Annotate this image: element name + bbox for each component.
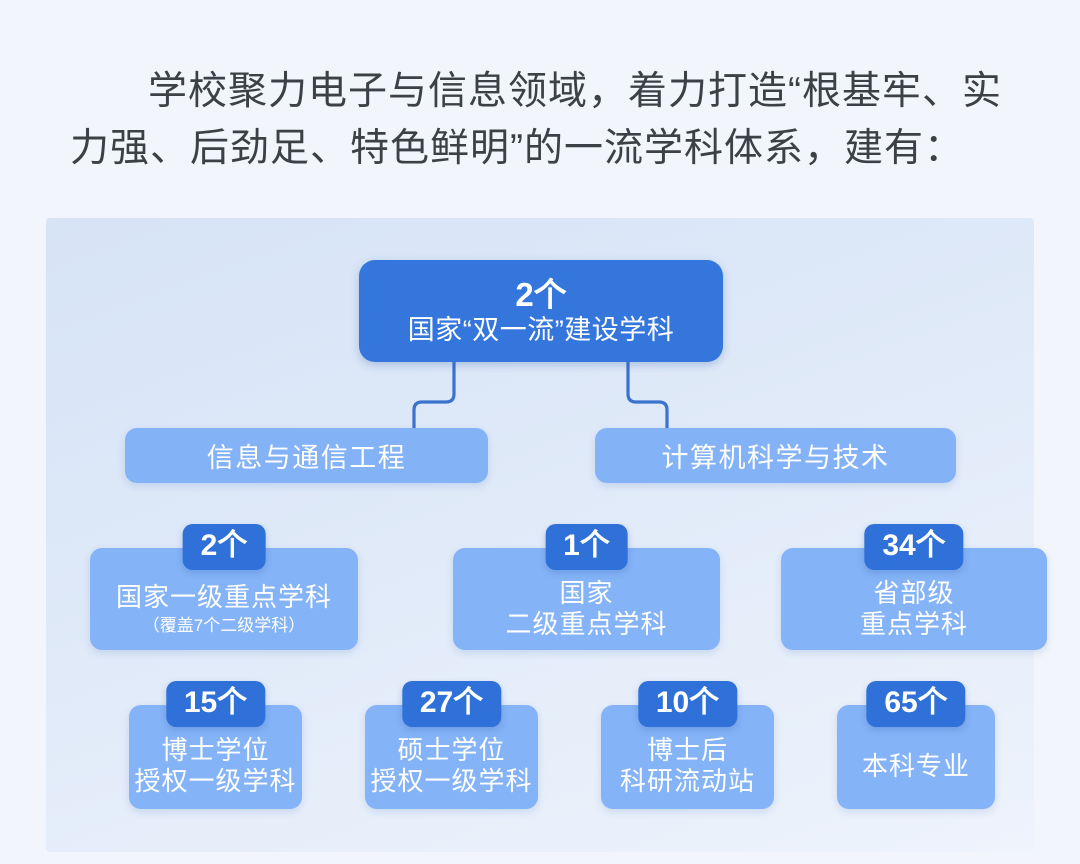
stat-title: 国家一级重点学科 (116, 582, 332, 613)
intro-paragraph: 学校聚力电子与信息领域，着力打造“根基牢、实力强、后劲足、特色鲜明”的一流学科体… (70, 63, 1014, 177)
connector-left (414, 362, 454, 428)
stat-badge: 2个 (183, 524, 266, 570)
discipline-diagram-panel: 2个 国家“双一流”建设学科 信息与通信工程 计算机科学与技术 2个 国家一级重… (46, 218, 1034, 852)
stat-title: 博士后 科研流动站 (620, 735, 755, 797)
root-node[interactable]: 2个 国家“双一流”建设学科 (359, 260, 723, 362)
stat-card-master-programs[interactable]: 27个 硕士学位 授权一级学科 (365, 705, 538, 809)
stat-card-provincial-key[interactable]: 34个 省部级 重点学科 (781, 548, 1047, 650)
stat-card-body: 博士学位 授权一级学科 (129, 729, 302, 803)
branch-node-0[interactable]: 信息与通信工程 (125, 428, 488, 483)
stat-badge: 15个 (166, 681, 265, 727)
connector-right (628, 362, 667, 428)
stat-card-body: 国家一级重点学科 （覆盖7个二级学科） (90, 574, 358, 644)
stat-card-body: 省部级 重点学科 (781, 574, 1047, 644)
stat-card-national-first-level[interactable]: 2个 国家一级重点学科 （覆盖7个二级学科） (90, 548, 358, 650)
stat-title: 国家 二级重点学科 (505, 578, 667, 640)
branch-node-1[interactable]: 计算机科学与技术 (595, 428, 956, 483)
stat-badge: 1个 (545, 524, 628, 570)
branch-label: 信息与通信工程 (207, 436, 407, 475)
stat-card-undergraduate-majors[interactable]: 65个 本科专业 (837, 705, 995, 809)
stat-card-body: 硕士学位 授权一级学科 (365, 729, 538, 803)
stat-badge: 27个 (402, 681, 501, 727)
stat-card-national-second-level[interactable]: 1个 国家 二级重点学科 (453, 548, 720, 650)
stat-title: 本科专业 (862, 751, 970, 782)
stat-card-body: 博士后 科研流动站 (601, 729, 774, 803)
stat-badge: 34个 (864, 524, 963, 570)
stat-title: 博士学位 授权一级学科 (134, 735, 296, 797)
branch-label: 计算机科学与技术 (662, 436, 890, 475)
stat-title: 省部级 重点学科 (860, 578, 968, 640)
stat-card-body: 国家 二级重点学科 (453, 574, 720, 644)
stat-card-postdoctoral-stations[interactable]: 10个 博士后 科研流动站 (601, 705, 774, 809)
stat-card-body: 本科专业 (837, 729, 995, 803)
stat-card-doctoral-programs[interactable]: 15个 博士学位 授权一级学科 (129, 705, 302, 809)
stat-title: 硕士学位 授权一级学科 (370, 735, 532, 797)
root-count: 2个 (515, 276, 566, 314)
stat-badge: 10个 (638, 681, 737, 727)
root-label: 国家“双一流”建设学科 (408, 314, 674, 347)
stat-badge: 65个 (866, 681, 965, 727)
stat-subtitle: （覆盖7个二级学科） (143, 615, 305, 637)
